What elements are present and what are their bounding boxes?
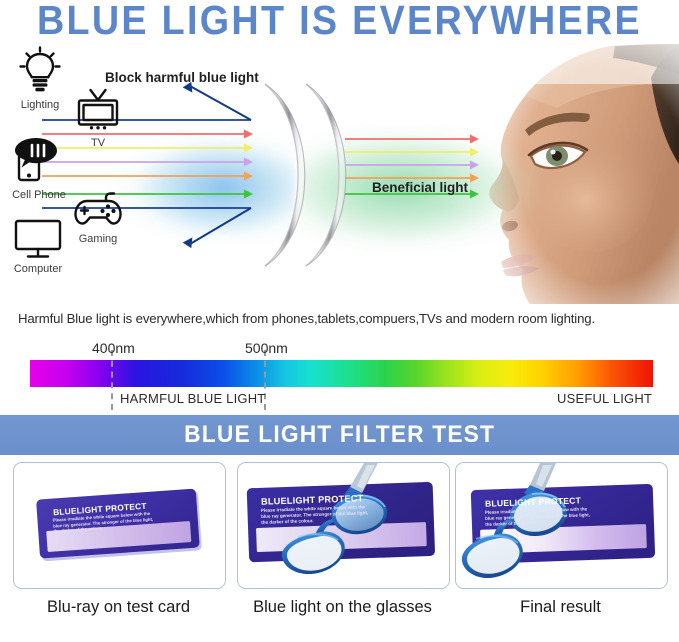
harmful-blue-light-sentence: Harmful Blue light is everywhere,which f… [18,311,668,326]
gamepad-icon [72,190,124,232]
panel-caption: Blue light on the glasses [237,598,448,617]
device-label: TV [72,137,124,149]
spectrum-useful-label: USEFUL LIGHT [557,391,652,406]
spectrum-tick-500: 500nm [245,340,288,356]
spectrum-diagram: 400nm 500nm HARMFUL BLUE LIGHT USEFUL LI… [0,340,679,408]
cellphone-icon [8,134,70,188]
spectrum-marker-400 [111,350,113,410]
spectrum-harmful-label: HARMFUL BLUE LIGHT [120,391,265,406]
infographic-page: BLUE LIGHT IS EVERYWHERE [0,0,679,642]
page-title: BLUE LIGHT IS EVERYWHERE [27,0,652,42]
panel-glasses: BLUELIGHT PROTECT Please irradiate the w… [237,462,448,617]
device-tv: TV [72,88,124,149]
panel-test-card: BLUELIGHT PROTECT Please irradiate the w… [13,462,224,617]
panel-caption: Final result [455,598,666,617]
panel-final-result: BLUELIGHT PROTECT Please irradiate the w… [455,462,666,617]
panel-image-frame: BLUELIGHT PROTECT Please irradiate the w… [455,462,668,589]
device-cell-phone: Cell Phone [8,134,70,201]
panel-caption: Blu-ray on test card [13,598,224,617]
beneficial-light-label: Beneficial light [372,180,468,195]
lightbulb-icon [14,46,66,98]
device-computer: Computer [10,216,66,275]
device-label: Gaming [72,233,124,245]
panel-image-frame: BLUELIGHT PROTECT Please irradiate the w… [13,462,226,589]
spectrum-gradient-bar [30,360,653,387]
banner-title: BLUE LIGHT FILTER TEST [184,421,495,449]
device-label: Computer [10,263,66,275]
panel-image-frame: BLUELIGHT PROTECT Please irradiate the w… [237,462,450,589]
tv-icon [72,88,124,136]
device-label: Cell Phone [8,189,70,201]
test-panel-row: BLUELIGHT PROTECT Please irradiate the w… [0,462,679,642]
card-body-text: Please irradiate the white square below … [261,504,374,526]
spectrum-tick-400: 400nm [92,340,135,356]
device-gaming: Gaming [72,190,124,245]
device-icon-column: Lighting TV [0,44,135,274]
device-lighting: Lighting [14,46,66,111]
monitor-icon [10,216,66,262]
filter-test-banner: BLUE LIGHT FILTER TEST [0,415,679,455]
device-label: Lighting [14,99,66,111]
